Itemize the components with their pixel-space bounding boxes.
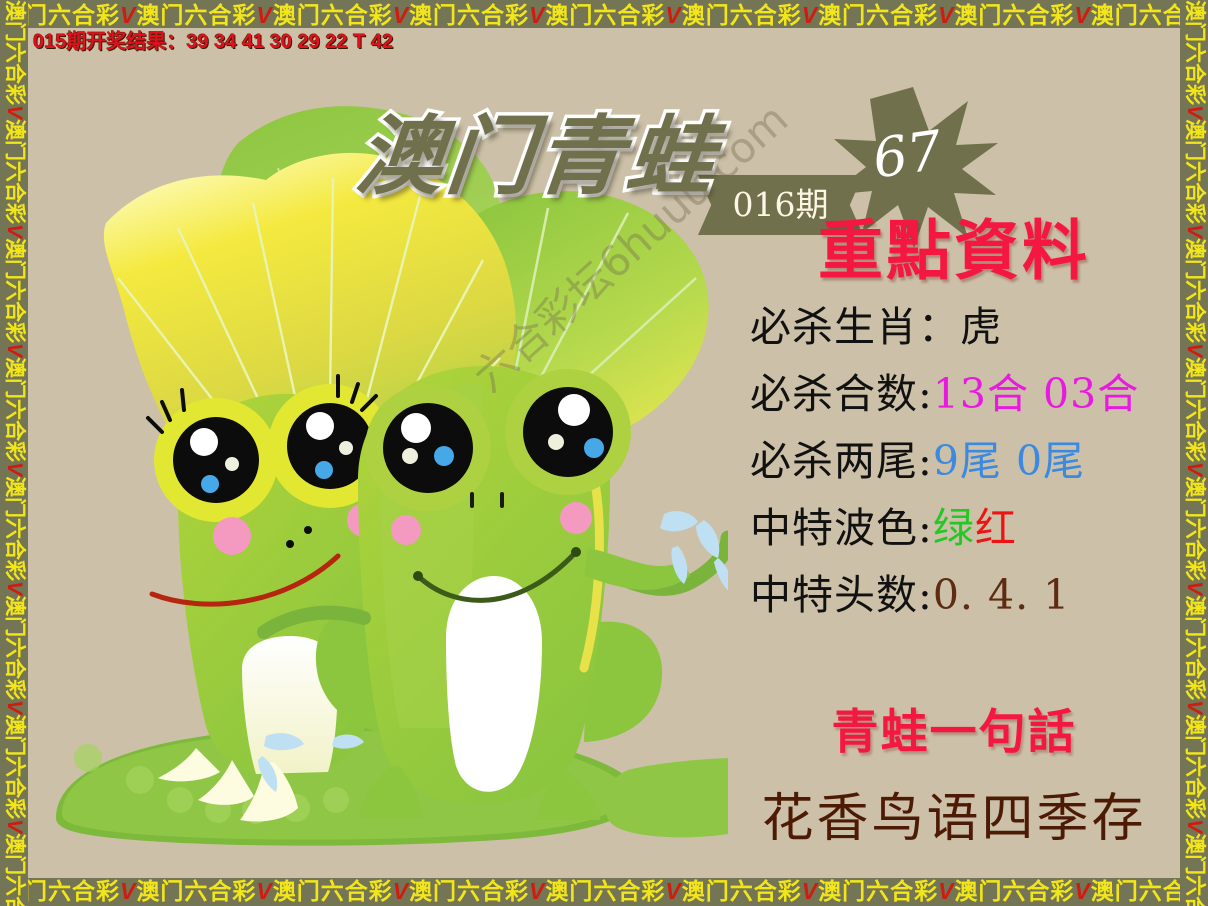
row-heshu-label: 必杀合数: — [750, 370, 933, 418]
row-bose-label: 中特波色: — [750, 504, 933, 552]
row-toushu: 中特头数:0. 4. 1 — [750, 561, 1180, 621]
row-liangwei-label: 必杀两尾: — [750, 437, 933, 485]
panel-heading: 重點資料 — [728, 218, 1180, 286]
row-shengxiao-label: 必杀生肖： — [750, 303, 960, 351]
starburst-number: 67 — [869, 119, 946, 191]
page-title-text: 澳门青蛙 — [352, 107, 723, 207]
quote-body: 花香鸟语四季存 — [728, 776, 1180, 851]
poster-root: 澳门六合彩V澳门六合彩V澳门六合彩V澳门六合彩V澳门六合彩V澳门六合彩V澳门六合… — [0, 0, 1208, 906]
row-liangwei: 必杀两尾:9尾 0尾 — [750, 427, 1180, 487]
poster-canvas: 澳门青蛙 67 016期 重點資料 必杀生肖：虎 必杀合数:13合 03合 必杀… — [28, 28, 1180, 878]
border-ribbon-right: 澳门六合彩V澳门六合彩V澳门六合彩V澳门六合彩V澳门六合彩V澳门六合彩V澳门六合… — [1180, 0, 1208, 906]
row-shengxiao: 必杀生肖：虎 — [750, 293, 1180, 353]
info-panel: 重點資料 必杀生肖：虎 必杀合数:13合 03合 必杀两尾:9尾 0尾 中特波色… — [728, 218, 1180, 851]
border-ribbon-top: 澳门六合彩V澳门六合彩V澳门六合彩V澳门六合彩V澳门六合彩V澳门六合彩V澳门六合… — [0, 0, 1208, 30]
border-ribbon-left-text: 澳门六合彩V澳门六合彩V澳门六合彩V澳门六合彩V澳门六合彩V澳门六合彩V澳门六合… — [0, 0, 28, 906]
row-bose-value-red: 红 — [975, 504, 1017, 552]
row-bose: 中特波色:绿红 — [750, 494, 1180, 554]
row-shengxiao-value: 虎 — [960, 303, 1002, 351]
row-toushu-value: 0. 4. 1 — [933, 571, 1070, 619]
border-ribbon-top-text: 澳门六合彩V澳门六合彩V澳门六合彩V澳门六合彩V澳门六合彩V澳门六合彩V澳门六合… — [0, 2, 1208, 28]
row-heshu: 必杀合数:13合 03合 — [750, 360, 1180, 420]
border-ribbon-bottom-text: 澳门六合彩V澳门六合彩V澳门六合彩V澳门六合彩V澳门六合彩V澳门六合彩V澳门六合… — [0, 878, 1208, 904]
row-heshu-value: 13合 03合 — [933, 370, 1139, 418]
border-ribbon-left: 澳门六合彩V澳门六合彩V澳门六合彩V澳门六合彩V澳门六合彩V澳门六合彩V澳门六合… — [0, 0, 28, 906]
page-title: 澳门青蛙 — [351, 86, 724, 211]
border-ribbon-right-text: 澳门六合彩V澳门六合彩V澳门六合彩V澳门六合彩V澳门六合彩V澳门六合彩V澳门六合… — [1180, 0, 1208, 906]
row-toushu-label: 中特头数: — [750, 571, 933, 619]
quote-heading: 青蛙一句話 — [728, 693, 1180, 762]
row-liangwei-value: 9尾 0尾 — [933, 437, 1085, 485]
row-bose-value-green: 绿 — [933, 504, 975, 552]
border-ribbon-bottom: 澳门六合彩V澳门六合彩V澳门六合彩V澳门六合彩V澳门六合彩V澳门六合彩V澳门六合… — [0, 876, 1208, 906]
draw-result-line: 015期开奖结果：39 34 41 30 29 22 T 42 — [27, 29, 1181, 55]
